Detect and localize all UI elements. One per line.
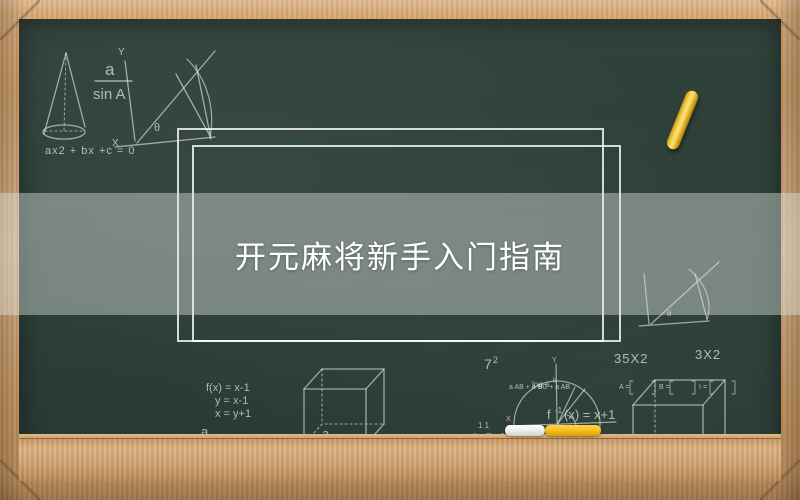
chalk-text-fx-2: y = x-1 [215, 395, 248, 407]
chalk-text-circle-y: Y [552, 357, 557, 364]
chalk-text-matrix-label-b: 3X2 [695, 347, 721, 362]
chalk-text-matrix-c: I = [699, 384, 707, 391]
chalk-text-inverse-f: f [547, 407, 551, 422]
chalk-text-fx-3: x = y+1 [215, 408, 251, 420]
seven-squared-label: 7 2 [484, 355, 498, 372]
white-chalk-icon [505, 425, 545, 436]
axis-angle-diagram-topleft: Y X θ [112, 47, 215, 149]
cone-drawing [43, 53, 85, 139]
cube-wireframe-middle [304, 369, 384, 444]
chalk-text-seven: 7 [484, 356, 492, 372]
chalk-text-matrix-label-a: 35X2 [614, 351, 648, 366]
page-title: 开元麻将新手入门指南 [235, 232, 565, 277]
title-band: 开元麻将新手入门指南 [0, 193, 800, 315]
chalk-text-fx-1: f(x) = x-1 [206, 382, 250, 394]
chalk-text-axis-y: Y [118, 47, 125, 58]
chalk-text-a-numerator: a [105, 60, 115, 79]
yellow-chalk-icon [545, 425, 601, 436]
chalk-text-sum-carry: 1 1 [478, 421, 490, 430]
chalk-text-sin-a: sin A [93, 86, 126, 103]
chalk-text-circle-x: X [506, 416, 511, 423]
chalk-ledge [19, 438, 781, 481]
chalk-text-matrix-a: A = [619, 384, 629, 391]
chalk-text-theta: θ [154, 122, 160, 134]
chalk-text-inverse-exp: -1 [555, 406, 563, 415]
chalk-text-seven-exp: 2 [493, 355, 498, 365]
screenshot-root: a sin A Y X θ ax2 + bx +c = 0 f(x) = x- [0, 0, 800, 500]
chalk-text-quadratic: ax2 + bx +c = 0 [45, 145, 136, 157]
chalk-text-matrix-b: B = [659, 384, 670, 391]
chalk-text-inverse-rest: (x) = x+1 [564, 407, 615, 422]
function-equations-group: f(x) = x-1 y = x-1 x = y+1 [206, 382, 251, 420]
